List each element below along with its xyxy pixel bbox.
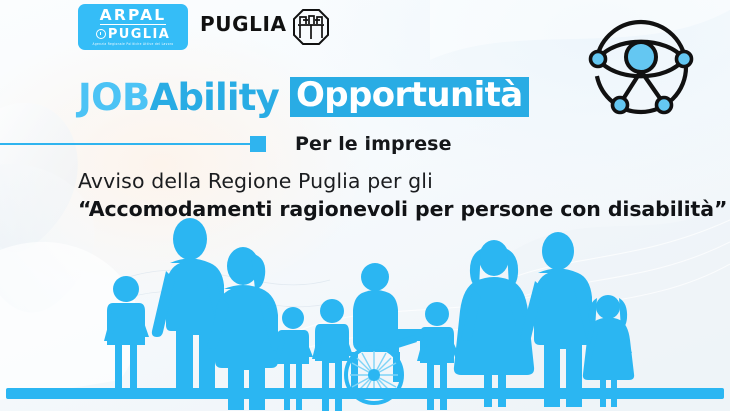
accessibility-network-icon — [580, 12, 702, 122]
title-ability: Ability — [150, 76, 279, 119]
subtitle-target-audience: Per le imprese — [295, 133, 452, 155]
body-line-1: Avviso della Regione Puglia per gli — [78, 169, 433, 193]
arpal-logo-line2: PUGLIA — [108, 28, 170, 41]
clock-mark-icon — [96, 29, 106, 39]
page-title: JOB Ability Opportunità — [78, 76, 529, 118]
figure-adult-woman-right — [454, 240, 534, 407]
poster-canvas: ARPAL PUGLIA Agenzia Regionale Politiche… — [0, 0, 730, 411]
figure-adult-man-right — [521, 232, 597, 407]
arpal-logo: ARPAL PUGLIA Agenzia Regionale Politiche… — [78, 4, 188, 50]
arpal-logo-line1: ARPAL — [100, 8, 167, 26]
figure-child-left — [104, 276, 149, 389]
arpal-logo-line2-row: PUGLIA — [96, 28, 170, 41]
title-opportunita-highlight: Opportunità — [290, 77, 529, 116]
castel-del-monte-octagon-emblem-icon — [292, 8, 330, 46]
title-job: JOB — [78, 76, 150, 119]
blue-ground-bar — [6, 388, 724, 399]
arpal-logo-subtitle: Agenzia Regionale Politiche Attive del L… — [93, 43, 174, 46]
inclusive-people-silhouettes — [0, 211, 730, 411]
region-wordmark: PUGLIA — [200, 12, 287, 36]
blue-square-marker-icon — [250, 136, 266, 152]
divider-line — [0, 143, 252, 145]
